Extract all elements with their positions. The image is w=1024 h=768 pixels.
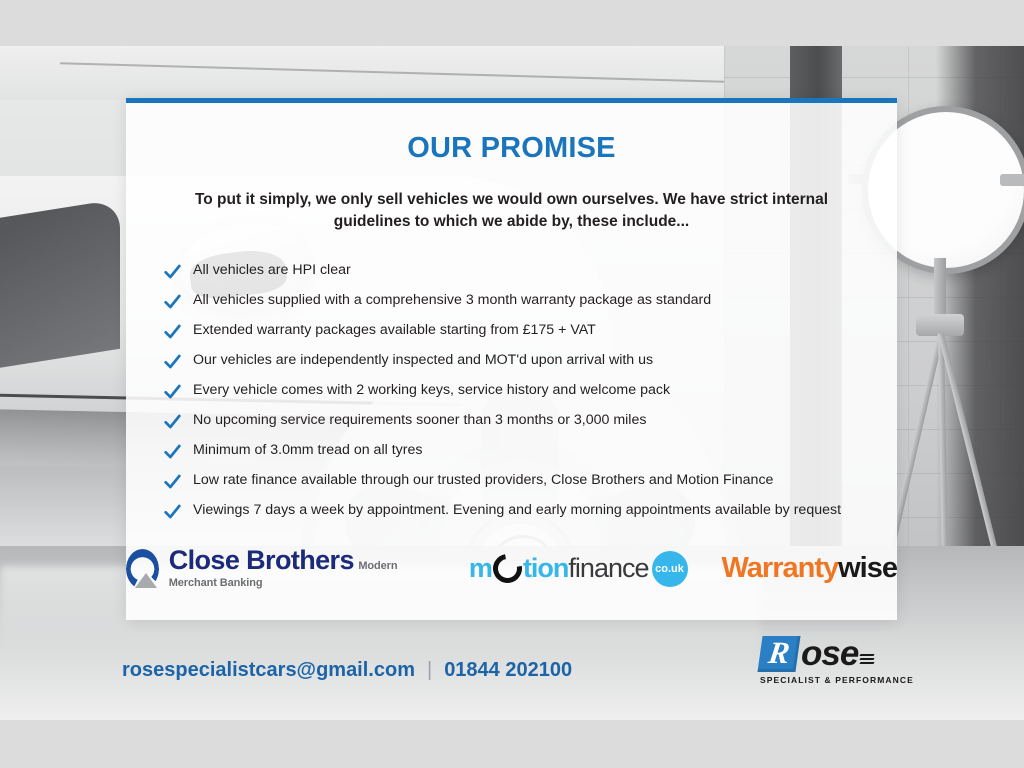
list-item-label: All vehicles supplied with a comprehensi…: [193, 291, 711, 309]
list-item-label: Every vehicle comes with 2 working keys,…: [193, 381, 670, 399]
rose-logo-letter: R: [757, 636, 800, 672]
contact-phone[interactable]: 01844 202100: [444, 660, 572, 680]
check-icon: [164, 413, 181, 430]
check-icon: [164, 293, 181, 310]
list-item-label: No upcoming service requirements sooner …: [193, 411, 646, 429]
slide-canvas: W OUR PROMISE To put it simply, we only …: [0, 0, 1024, 768]
light-bracket-right: [1000, 174, 1024, 186]
letterbox-top: [0, 0, 1024, 46]
page-title: OUR PROMISE: [126, 134, 897, 163]
contact-email[interactable]: rosespecialistcars@gmail.com: [122, 660, 415, 680]
speed-streaks-icon: [860, 654, 874, 664]
promise-card: OUR PROMISE To put it simply, we only se…: [126, 98, 897, 620]
motion-finance-o-icon: [487, 548, 527, 588]
warrantywise-part-two: wise: [838, 554, 897, 583]
check-icon: [164, 443, 181, 460]
warrantywise-logo: Warrantywise: [722, 554, 898, 583]
letterbox-bottom: [0, 720, 1024, 768]
close-brothers-name: Close Brothers: [169, 545, 354, 575]
list-item: Viewings 7 days a week by appointment. E…: [164, 501, 897, 520]
list-item: Low rate finance available through our t…: [164, 471, 897, 490]
list-item: All vehicles supplied with a comprehensi…: [164, 291, 897, 310]
check-icon: [164, 323, 181, 340]
partner-logos: Close Brothers Modern Merchant Banking m…: [126, 547, 897, 590]
tripod-head: [916, 314, 964, 336]
check-icon: [164, 473, 181, 490]
check-icon: [164, 503, 181, 520]
list-item: Extended warranty packages available sta…: [164, 321, 897, 340]
close-brothers-mark-icon: [126, 549, 159, 589]
list-item-label: Viewings 7 days a week by appointment. E…: [193, 501, 841, 519]
list-item: All vehicles are HPI clear: [164, 261, 897, 280]
check-icon: [164, 353, 181, 370]
motion-finance-finance: finance: [568, 555, 648, 582]
check-icon: [164, 383, 181, 400]
list-item-label: Our vehicles are independently inspected…: [193, 351, 653, 369]
car-window: [0, 199, 120, 416]
motion-finance-badge: co.uk: [652, 551, 688, 587]
list-item-label: Low rate finance available through our t…: [193, 471, 773, 489]
light-stem: [934, 258, 946, 320]
motion-finance-tion: tion: [523, 555, 568, 582]
motion-finance-logo: m tion finance co.uk: [469, 551, 688, 587]
card-intro-text: To put it simply, we only sell vehicles …: [172, 189, 851, 233]
list-item-label: All vehicles are HPI clear: [193, 261, 351, 279]
close-brothers-logo: Close Brothers Modern Merchant Banking: [126, 547, 435, 590]
rose-logo: R ose SPECIALIST & PERFORMANCE: [760, 634, 915, 692]
contact-separator: |: [427, 660, 432, 680]
rose-logo-tagline: SPECIALIST & PERFORMANCE: [760, 676, 915, 685]
rose-logo-word: ose: [801, 636, 858, 672]
list-item-label: Minimum of 3.0mm tread on all tyres: [193, 441, 422, 459]
list-item-label: Extended warranty packages available sta…: [193, 321, 596, 339]
list-item: No upcoming service requirements sooner …: [164, 411, 897, 430]
card-accent-bar: [126, 98, 897, 103]
check-icon: [164, 263, 181, 280]
promise-list: All vehicles are HPI clear All vehicles …: [126, 261, 897, 520]
list-item: Our vehicles are independently inspected…: [164, 351, 897, 370]
motion-finance-m: m: [469, 555, 492, 582]
list-item: Every vehicle comes with 2 working keys,…: [164, 381, 897, 400]
warrantywise-part-one: Warranty: [722, 554, 839, 583]
list-item: Minimum of 3.0mm tread on all tyres: [164, 441, 897, 460]
